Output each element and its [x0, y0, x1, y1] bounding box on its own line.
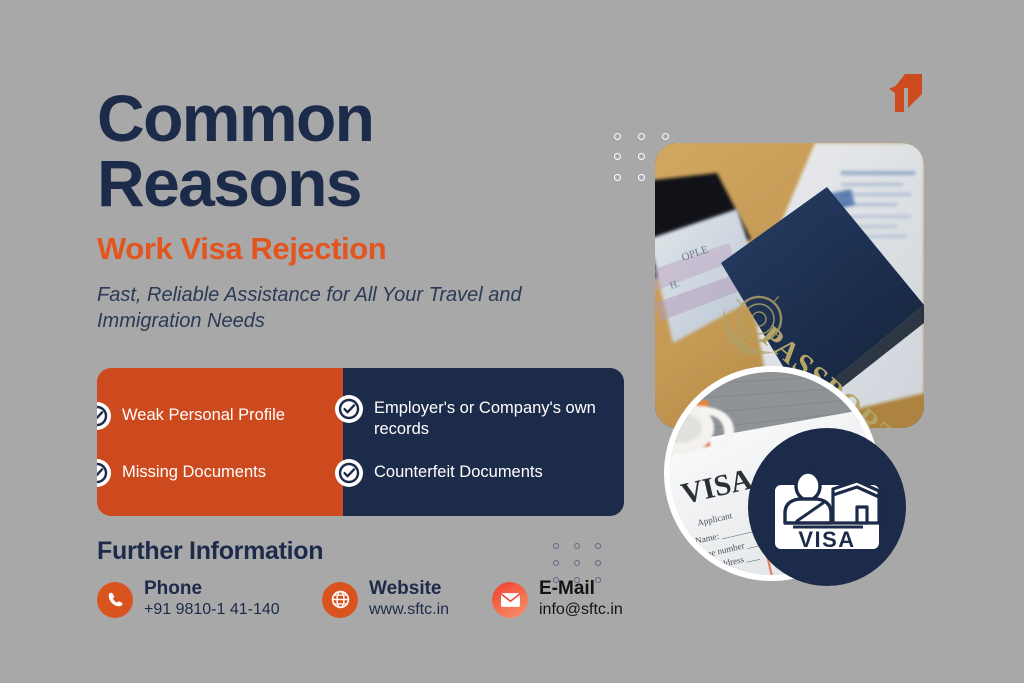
contact-value: www.sftc.in: [369, 600, 449, 621]
contact-website[interactable]: Website www.sftc.in: [322, 578, 449, 621]
visa-badge-label: VISA: [798, 527, 855, 552]
poster-canvas: Common Reasons Work Visa Rejection Fast,…: [0, 0, 1024, 683]
contact-label: Website: [369, 578, 449, 599]
headline-line-2: Reasons: [97, 151, 617, 216]
contact-label: E-Mail: [539, 578, 623, 599]
globe-icon: [322, 582, 358, 618]
reason-item: Counterfeit Documents: [335, 459, 624, 487]
contact-email[interactable]: E-Mail info@sftc.in: [492, 578, 623, 621]
contact-label: Phone: [144, 578, 280, 599]
reason-item: Employer's or Company's own records: [335, 395, 624, 440]
contact-text-group: E-Mail info@sftc.in: [539, 578, 623, 621]
phone-icon: [97, 582, 133, 618]
reasons-panel: Weak Personal Profile Missing Documents: [97, 368, 624, 516]
reasons-column-right: Employer's or Company's own records Coun…: [343, 368, 624, 516]
tagline: Fast, Reliable Assistance for All Your T…: [97, 282, 577, 335]
reason-label: Weak Personal Profile: [122, 402, 312, 426]
visa-badge-icon: VISA: [748, 428, 906, 586]
envelope-icon: [492, 582, 528, 618]
check-circle-icon: [97, 459, 111, 487]
reason-item: Missing Documents: [97, 459, 312, 487]
contact-phone[interactable]: Phone +91 9810-1 41-140: [97, 578, 280, 621]
contact-text-group: Phone +91 9810-1 41-140: [144, 578, 280, 621]
further-information-heading: Further Information: [97, 537, 323, 566]
contact-value: info@sftc.in: [539, 600, 623, 621]
reason-label: Missing Documents: [122, 459, 312, 483]
subheadline: Work Visa Rejection: [97, 231, 617, 267]
check-circle-icon: [97, 402, 111, 430]
contact-value: +91 9810-1 41-140: [144, 600, 280, 621]
reason-item: Weak Personal Profile: [97, 402, 312, 430]
reason-label: Employer's or Company's own records: [374, 395, 624, 440]
angular-arrow-logo-icon: [884, 68, 936, 118]
headline-block: Common Reasons Work Visa Rejection Fast,…: [97, 86, 617, 334]
reason-label: Counterfeit Documents: [374, 459, 624, 483]
reasons-column-left: Weak Personal Profile Missing Documents: [97, 368, 343, 516]
contact-text-group: Website www.sftc.in: [369, 578, 449, 621]
headline-line-1: Common: [97, 86, 617, 151]
check-circle-icon: [335, 395, 363, 423]
check-circle-icon: [335, 459, 363, 487]
